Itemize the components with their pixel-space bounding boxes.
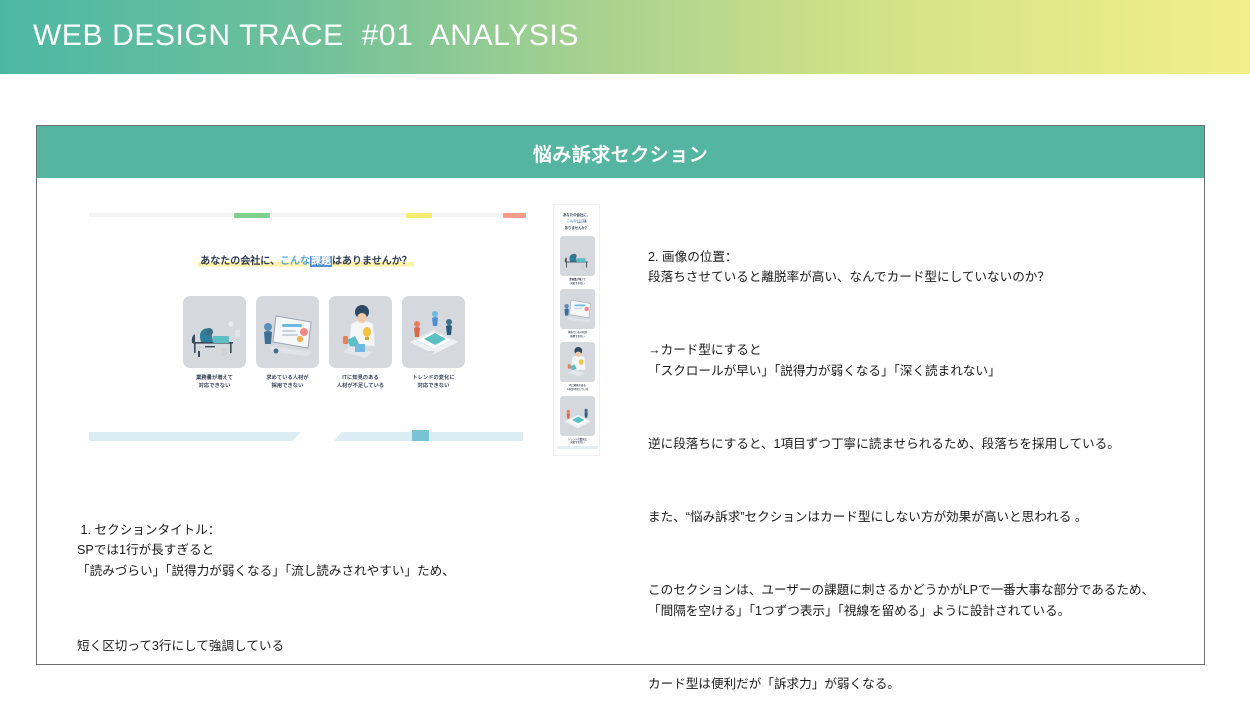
pc-mockup-card-caption: トレンドの変化に 対応できない: [402, 374, 465, 390]
sp-mockup-item: 業務量が増えて 対応できない: [560, 236, 595, 285]
caption-line-2: 対応できない: [570, 441, 584, 444]
sp-mockup-item: ITに知見のある 人材が不足している: [560, 342, 595, 391]
pc-mockup-card: ITに知見のある 人材が不足している: [329, 296, 392, 416]
caption-line-2: 対応できない: [570, 282, 584, 285]
pc-topbar-segment-red: [503, 213, 526, 218]
caption-line-2: 人材が不足している: [337, 383, 384, 389]
team-trend-illustration-svg: [560, 396, 595, 436]
note-paragraph: カード型は便利だが「訴求力」が弱くなる。: [648, 674, 1188, 694]
pc-mockup-card-caption: ITに知見のある 人材が不足している: [329, 374, 392, 390]
sp-mockup-footer-bar: [557, 446, 598, 449]
caption-line-2: 採用できない: [570, 335, 584, 338]
slide: WEB DESIGN TRACE #01 ANALYSIS 悩み訴求セクション …: [0, 0, 1250, 703]
laptop-recruiting-illustration-svg: [560, 289, 595, 329]
sp-heading-line3: ありませんか？: [565, 226, 589, 230]
scientist-lightbulb-icon: [329, 296, 392, 368]
caption-line-2: 人材が不足している: [567, 388, 588, 391]
pc-mockup-card: 求めている人材が 採用できない: [256, 296, 319, 416]
note-paragraph: 短く区切って3行にして強調している: [77, 636, 597, 656]
scientist-illustration-svg: [329, 296, 392, 368]
pc-heading-part2: はありませんか？: [332, 256, 412, 267]
team-trend-icon: [560, 396, 595, 436]
slide-title: WEB DESIGN TRACE #01 ANALYSIS: [33, 19, 579, 53]
sp-heading-accent-blue: こんな: [566, 219, 576, 223]
section-title-bar: 悩み訴求セクション: [37, 126, 1204, 178]
pc-topbar-segment-yellow: [406, 213, 432, 218]
pc-mockup-card-caption: 業務量が増えて 対応できない: [183, 374, 246, 390]
tired-worker-at-desk-icon: [183, 296, 246, 368]
caption-line-1: 業務量が増えて: [196, 375, 233, 381]
laptop-recruiting-icon: [560, 289, 595, 329]
slide-header-band: WEB DESIGN TRACE #01 ANALYSIS: [0, 0, 1250, 74]
pc-heading-accent-blue: こんな: [280, 256, 310, 267]
tired-worker-illustration-svg: [560, 236, 595, 276]
caption-line-1: 業務量が増えて: [569, 278, 586, 281]
note-paragraph: このセクションは、ユーザーの課題に刺さるかどうかがLPで一番大事な部分であるため…: [648, 580, 1188, 621]
note-paragraph: 1. セクションタイトル： SPでは1行が長すぎると 「読みづらい」「説得力が弱…: [77, 520, 597, 581]
team-trend-illustration-svg: [402, 296, 465, 368]
sp-mockup-item-caption: 求めている人材が 採用できない: [560, 331, 595, 338]
pc-mockup-card-row: 業務量が増えて 対応できない: [183, 296, 465, 416]
laptop-recruiting-icon: [256, 296, 319, 368]
caption-line-1: ITに知見のある: [342, 375, 379, 381]
note-paragraph: →カード型にすると 「スクロールが早い」「説得力が弱くなる」「深く読まれない」: [648, 340, 1188, 381]
pc-mockup-card: 業務量が増えて 対応できない: [183, 296, 246, 416]
note-paragraph: また、“悩み訴求”セクションはカード型にしない方が効果が高いと思われる 。: [648, 507, 1188, 527]
pc-mockup-topbar: [89, 213, 523, 217]
caption-line-1: 求めている人材が: [266, 375, 308, 381]
sp-mockup-preview: あなたの会社に、こんな課題はありませんか？: [553, 204, 600, 456]
caption-line-1: 求めている人材が: [568, 331, 587, 334]
pc-mockup-preview: あなたの会社に、こんな課題はありませんか？: [86, 204, 526, 456]
caption-line-2: 対応できない: [199, 383, 231, 389]
tired-worker-illustration-svg: [183, 296, 246, 368]
sp-mockup-item-list: 業務量が増えて 対応できない: [560, 236, 595, 449]
pc-mockup-heading: あなたの会社に、こんな課題はありませんか？: [86, 252, 526, 267]
pc-mockup-card-caption: 求めている人材が 採用できない: [256, 374, 319, 390]
scientist-illustration-svg: [560, 342, 595, 382]
tired-worker-at-desk-icon: [560, 236, 595, 276]
pc-topbar-segment-green: [234, 213, 270, 218]
section-title: 悩み訴求セクション: [37, 140, 1204, 167]
pc-mockup-footer-accent: [412, 430, 429, 441]
note-paragraph: 2. 画像の位置： 段落ちさせていると離脱率が高い、なんでカード型にしていないの…: [648, 247, 1188, 288]
sp-mockup-heading: あなたの会社に、こんな課題はありませんか？: [554, 212, 599, 231]
pc-mockup-card: トレンドの変化に 対応できない: [402, 296, 465, 416]
pc-mockup-footer-shape-left: [89, 432, 301, 441]
sp-mockup-item: 求めている人材が 採用できない: [560, 289, 595, 338]
sp-mockup-item-caption: ITに知見のある 人材が不足している: [560, 384, 595, 391]
sp-heading-line2-tail: は: [583, 219, 586, 223]
content-card: 悩み訴求セクション あなたの会社に、こんな課題はありませんか？: [36, 125, 1205, 665]
sp-heading-line1: あなたの会社に、: [563, 213, 590, 217]
laptop-recruiting-illustration-svg: [256, 296, 319, 368]
analysis-notes-bottom: 1. セクションタイトル： SPでは1行が長すぎると 「読みづらい」「説得力が弱…: [77, 479, 597, 697]
team-trend-icon: [402, 296, 465, 368]
pc-heading-accent-box: 課題: [310, 256, 332, 267]
sp-mockup-item-caption: トレンドの変化に 対応できない: [560, 438, 595, 445]
caption-line-1: ITに知見のある: [569, 384, 585, 387]
scientist-lightbulb-icon: [560, 342, 595, 382]
caption-line-2: 対応できない: [418, 383, 450, 389]
sp-mockup-item: トレンドの変化に 対応できない: [560, 396, 595, 445]
analysis-notes-right: 2. 画像の位置： 段落ちさせていると離脱率が高い、なんでカード型にしていないの…: [648, 206, 1188, 703]
caption-line-2: 採用できない: [272, 383, 304, 389]
caption-line-1: トレンドの変化に: [412, 375, 454, 381]
note-paragraph: 逆に段落ちにすると、1項目ずつ丁寧に読ませられるため、段落ちを採用している。: [648, 434, 1188, 454]
sp-mockup-item-caption: 業務量が増えて 対応できない: [560, 278, 595, 285]
pc-heading-part1: あなたの会社に、: [200, 256, 280, 267]
